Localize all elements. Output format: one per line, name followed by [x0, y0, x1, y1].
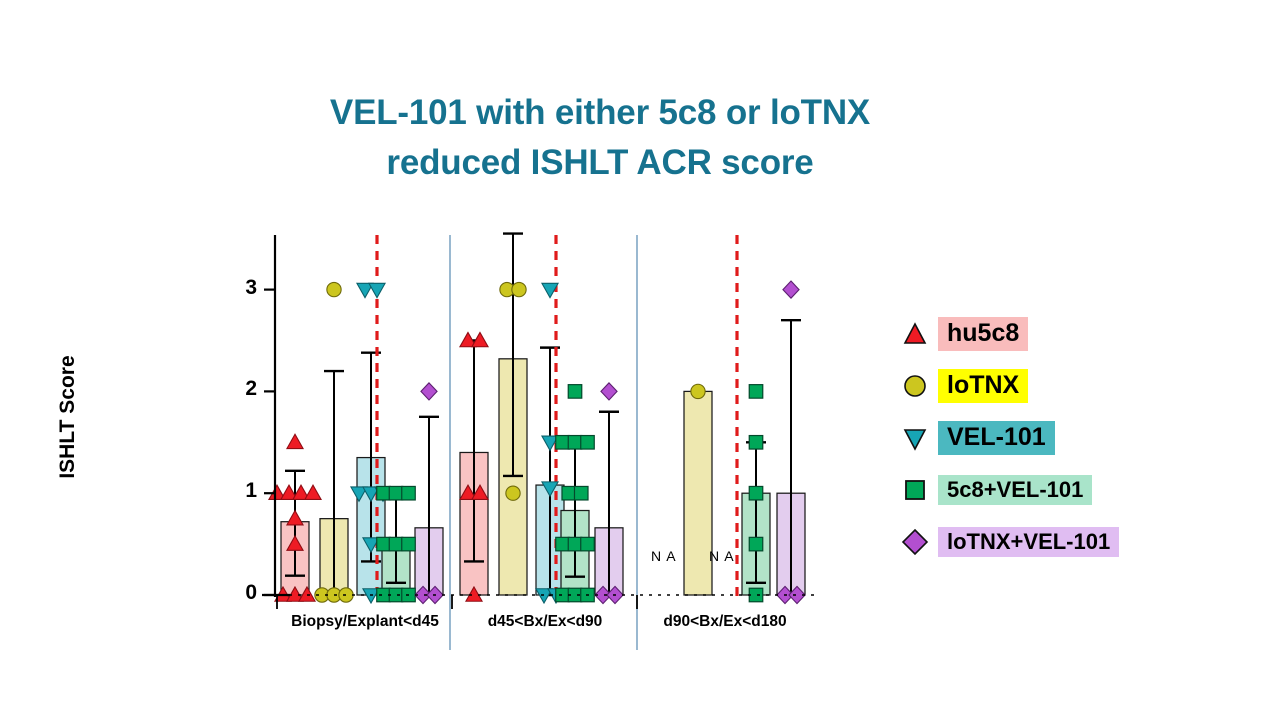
- legend-label-vel-101: VEL-101: [938, 421, 1055, 455]
- datapoint-hu5c8: [287, 434, 303, 448]
- datapoint-lotnx-vel-101: [783, 281, 799, 298]
- datapoint-5c8-vel-101: [749, 588, 763, 602]
- circle-icon: [900, 371, 930, 401]
- legend-label-hu5c8: hu5c8: [938, 317, 1028, 351]
- datapoint-lotnx: [512, 282, 526, 296]
- datapoint-5c8-vel-101: [749, 385, 763, 399]
- datapoint-5c8-vel-101: [389, 486, 403, 500]
- datapoint-5c8-vel-101: [389, 537, 403, 551]
- datapoint-5c8-vel-101: [389, 588, 403, 602]
- datapoint-5c8-vel-101: [402, 486, 416, 500]
- y-tick-label-3: 3: [229, 276, 257, 300]
- datapoint-5c8-vel-101: [556, 436, 570, 450]
- datapoint-5c8-vel-101: [749, 537, 763, 551]
- legend-label-5c8-vel-101: 5c8+VEL-101: [938, 475, 1092, 506]
- datapoint-5c8-vel-101: [377, 537, 391, 551]
- legend-label-lotnx-vel-101: loTNX+VEL-101: [938, 527, 1119, 558]
- legend-label-lotnx: loTNX: [938, 369, 1028, 403]
- legend-item-vel-101[interactable]: VEL-101: [900, 412, 1170, 464]
- chart-legend: hu5c8loTNXVEL-1015c8+VEL-101loTNX+VEL-10…: [900, 308, 1170, 568]
- y-tick-label-1: 1: [229, 479, 257, 503]
- slide-canvas: VEL-101 with either 5c8 or loTNX reduced…: [0, 0, 1280, 720]
- datapoint-5c8-vel-101: [377, 486, 391, 500]
- legend-item-lotnx[interactable]: loTNX: [900, 360, 1170, 412]
- datapoint-lotnx-vel-101: [601, 383, 617, 400]
- datapoint-5c8-vel-101: [556, 588, 570, 602]
- datapoint-lotnx: [691, 384, 705, 398]
- na-annotation-2: N A: [709, 548, 735, 564]
- na-annotation-1: N A: [651, 548, 677, 564]
- datapoint-vel-101: [369, 283, 385, 297]
- square-icon: [900, 475, 930, 505]
- datapoint-5c8-vel-101: [568, 385, 582, 399]
- datapoint-hu5c8: [305, 485, 321, 499]
- datapoint-5c8-vel-101: [562, 486, 576, 500]
- triangle-down-icon: [900, 423, 930, 453]
- datapoint-5c8-vel-101: [402, 537, 416, 551]
- datapoint-hu5c8: [287, 511, 303, 525]
- datapoint-5c8-vel-101: [749, 436, 763, 450]
- datapoint-5c8-vel-101: [581, 537, 595, 551]
- datapoint-lotnx-vel-101: [421, 383, 437, 400]
- datapoint-lotnx: [327, 282, 341, 296]
- y-tick-label-2: 2: [229, 377, 257, 401]
- datapoint-5c8-vel-101: [568, 537, 582, 551]
- datapoint-5c8-vel-101: [581, 436, 595, 450]
- legend-item-hu5c8[interactable]: hu5c8: [900, 308, 1170, 360]
- datapoint-5c8-vel-101: [568, 436, 582, 450]
- diamond-icon: [900, 527, 930, 557]
- datapoint-5c8-vel-101: [749, 486, 763, 500]
- triangle-up-icon: [900, 319, 930, 349]
- legend-item-5c8-vel-101[interactable]: 5c8+VEL-101: [900, 464, 1170, 516]
- y-tick-label-0: 0: [229, 581, 257, 605]
- datapoint-5c8-vel-101: [574, 486, 588, 500]
- datapoint-lotnx: [506, 486, 520, 500]
- x-category-label-3: d90<Bx/Ex<d180: [595, 613, 855, 631]
- legend-item-lotnx-vel-101[interactable]: loTNX+VEL-101: [900, 516, 1170, 568]
- bar-lotnx-g3: [684, 391, 712, 595]
- datapoint-5c8-vel-101: [556, 537, 570, 551]
